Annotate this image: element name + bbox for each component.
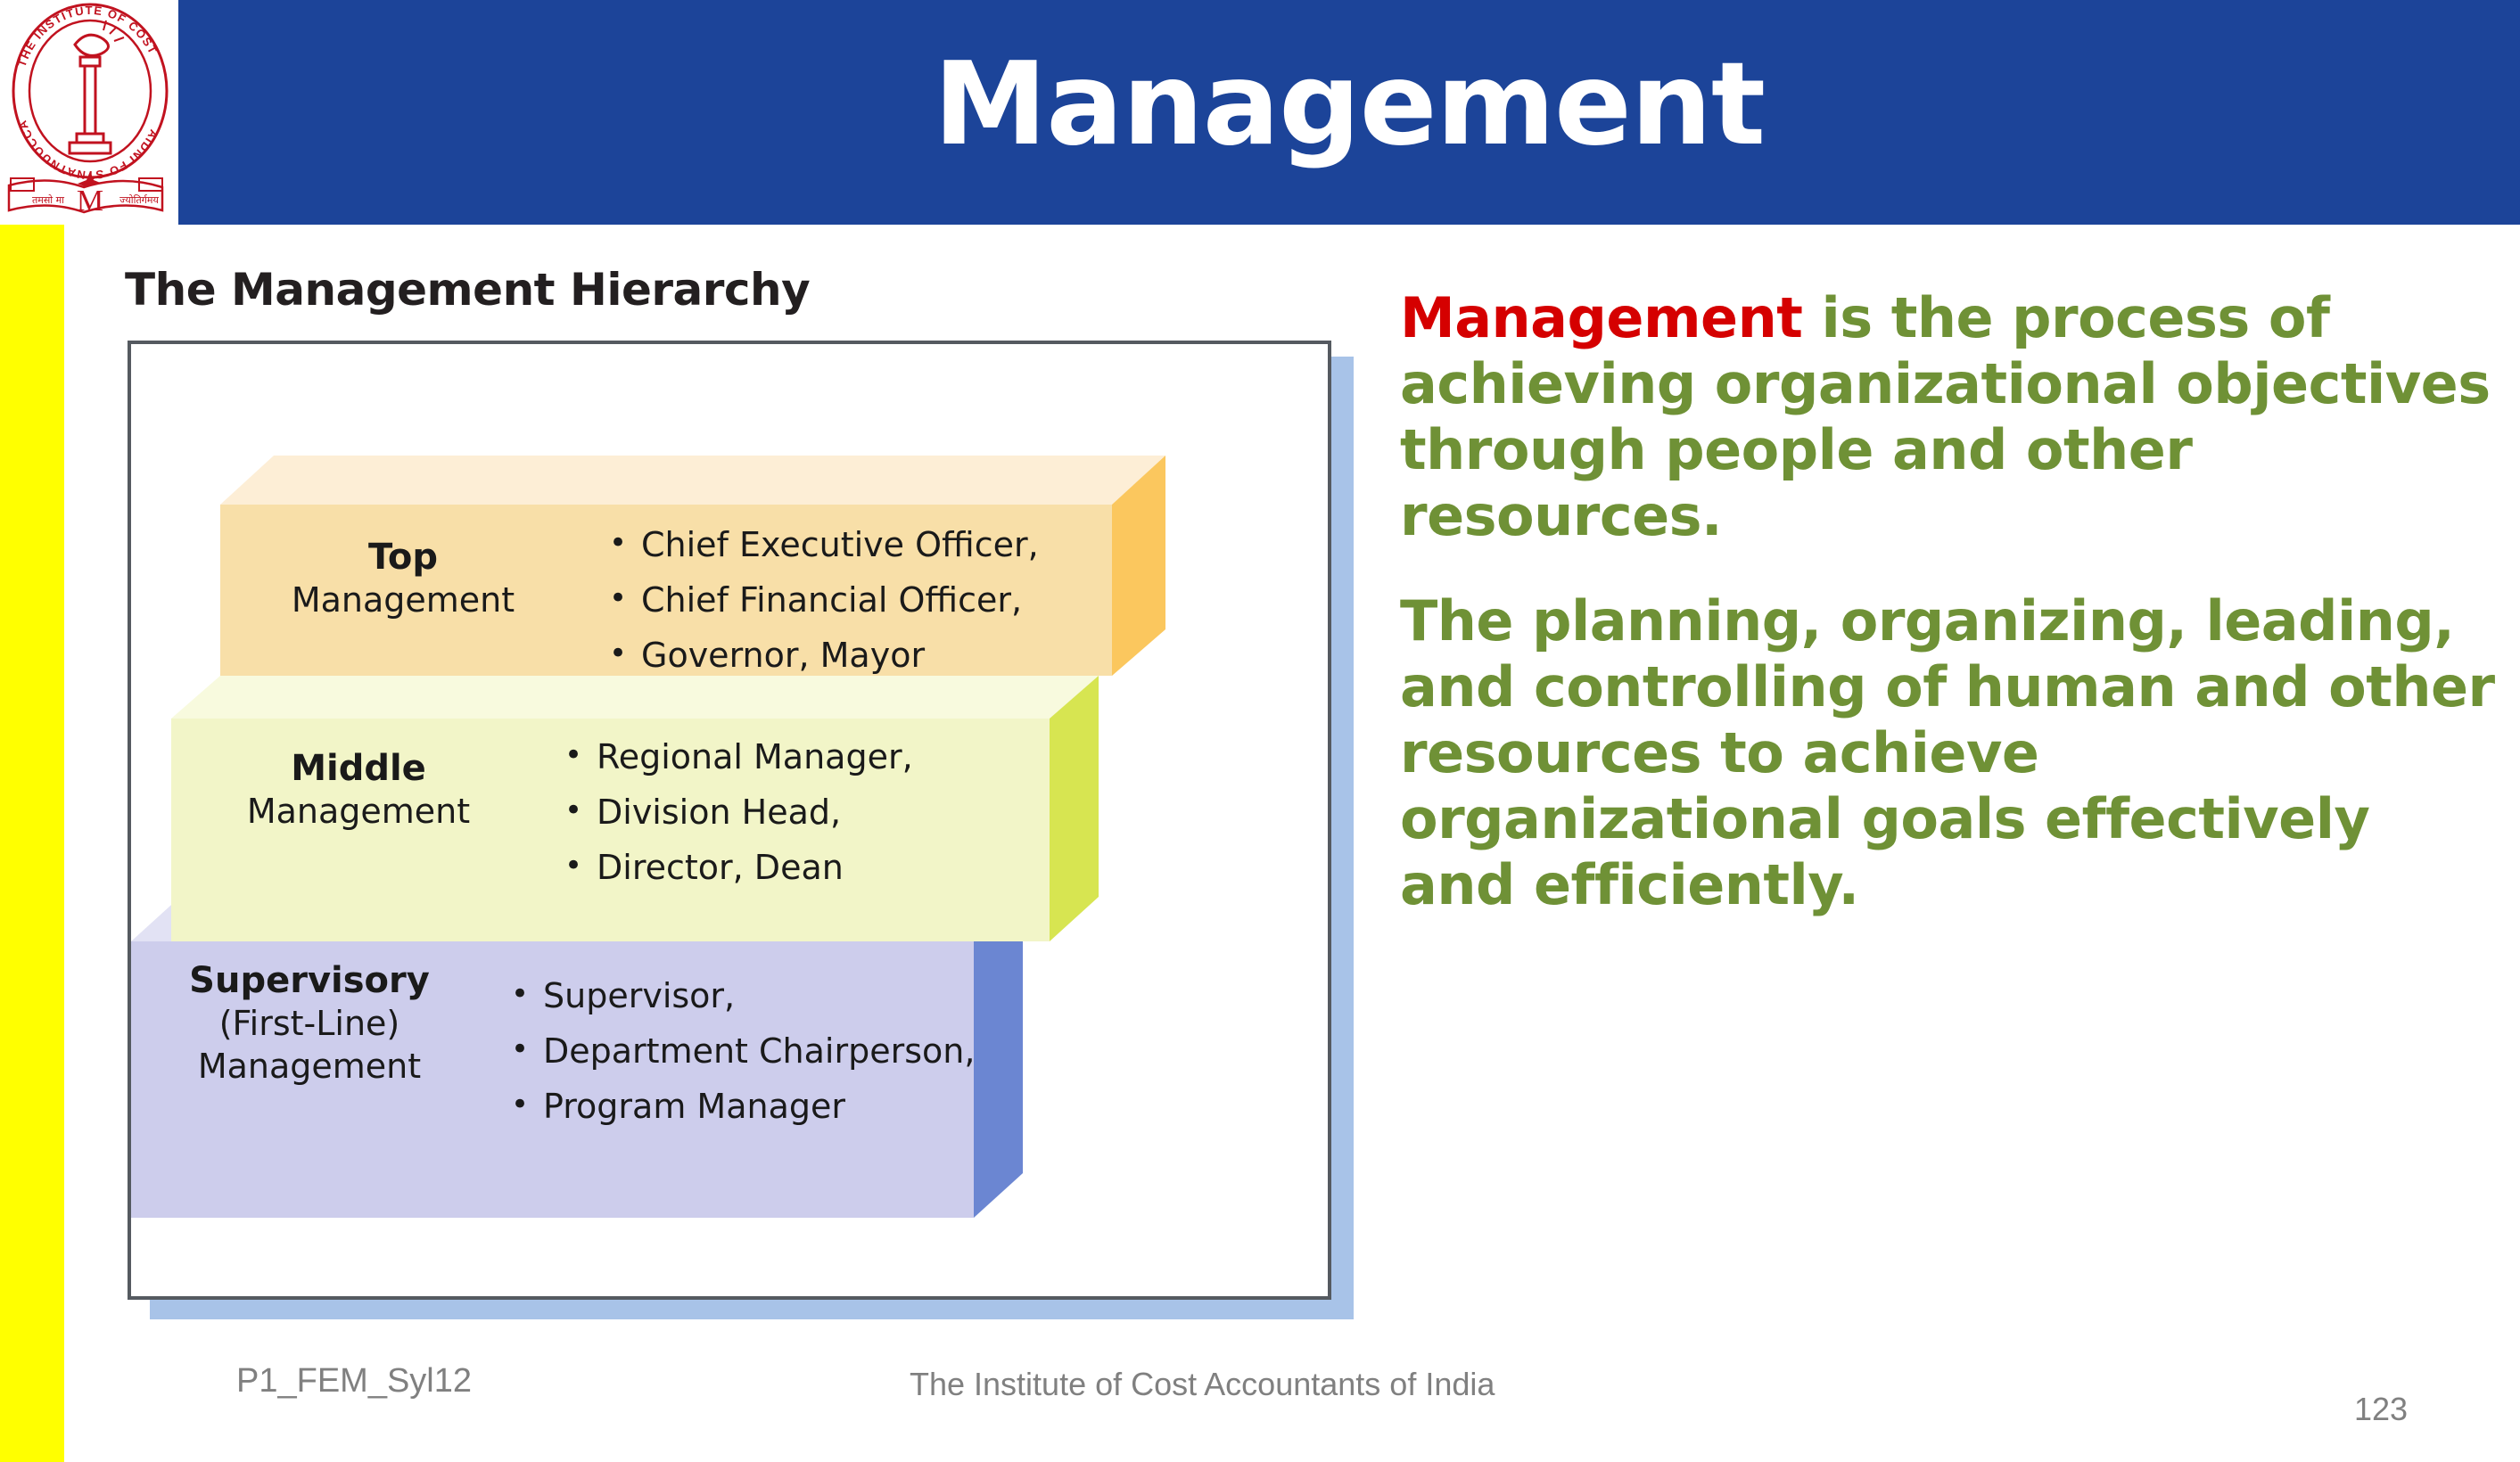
- tier-top-label-sub: Management: [256, 579, 550, 621]
- list-item: Chief Executive Officer,: [604, 517, 1039, 572]
- footer-code: P1_FEM_Syl12: [236, 1362, 472, 1400]
- list-item: Governor, Mayor: [604, 628, 1039, 683]
- svg-text:ज्योतिर्गमय: ज्योतिर्गमय: [119, 194, 159, 206]
- tier-middle-bullets: Regional Manager, Division Head, Directo…: [559, 729, 913, 895]
- accent-stripe: [0, 225, 64, 1462]
- page-title: Management: [178, 25, 2520, 203]
- tier-top-label-strong: Top: [256, 536, 550, 579]
- tier-top-label: Top Management: [256, 536, 550, 621]
- list-item: Director, Dean: [559, 840, 913, 895]
- tier-middle-label: Middle Management: [211, 747, 506, 833]
- definition-text-block: Management is the process of achieving o…: [1400, 285, 2497, 957]
- keyword-management: Management: [1400, 285, 1802, 350]
- tier-supervisory-label-sub: Management: [149, 1045, 470, 1088]
- list-item: Regional Manager,: [559, 729, 913, 784]
- list-item: Division Head,: [559, 784, 913, 840]
- tier-top-top-face: [220, 456, 1165, 505]
- tier-supervisory-label-strong: Supervisory: [149, 959, 470, 1002]
- paragraph-functions: The planning, organizing, leading, and c…: [1400, 588, 2497, 918]
- list-item: Supervisor,: [506, 968, 975, 1023]
- footer-institute-name: The Institute of Cost Accountants of Ind…: [910, 1366, 1495, 1403]
- tier-supervisory-label-mid: (First-Line): [149, 1002, 470, 1045]
- diagram-heading: The Management Hierarchy: [125, 264, 810, 316]
- institute-logo-icon: THE INSTITUTE OF COST AIDNI FO STNATNUOC…: [5, 2, 175, 223]
- list-item: Department Chairperson,: [506, 1023, 975, 1079]
- tier-supervisory-bullets: Supervisor, Department Chairperson, Prog…: [506, 968, 975, 1134]
- management-hierarchy-diagram: Top Management Chief Executive Officer, …: [128, 341, 1331, 1300]
- paragraph-definition: Management is the process of achieving o…: [1400, 285, 2497, 549]
- tier-supervisory-label: Supervisory (First-Line) Management: [149, 959, 470, 1088]
- logo: THE INSTITUTE OF COST AIDNI FO STNATNUOC…: [0, 0, 178, 225]
- svg-text:तमसो मा: तमसो मा: [32, 194, 64, 206]
- list-item: Program Manager: [506, 1079, 975, 1134]
- page-number: 123: [2354, 1391, 2408, 1428]
- tier-middle-label-strong: Middle: [211, 747, 506, 790]
- tier-supervisory-side-face: [974, 897, 1023, 1218]
- svg-text:M: M: [77, 185, 103, 218]
- list-item: Chief Financial Officer,: [604, 572, 1039, 628]
- tier-top-bullets: Chief Executive Officer, Chief Financial…: [604, 517, 1039, 683]
- tier-middle-side-face: [1050, 676, 1099, 941]
- tier-middle-label-sub: Management: [211, 790, 506, 833]
